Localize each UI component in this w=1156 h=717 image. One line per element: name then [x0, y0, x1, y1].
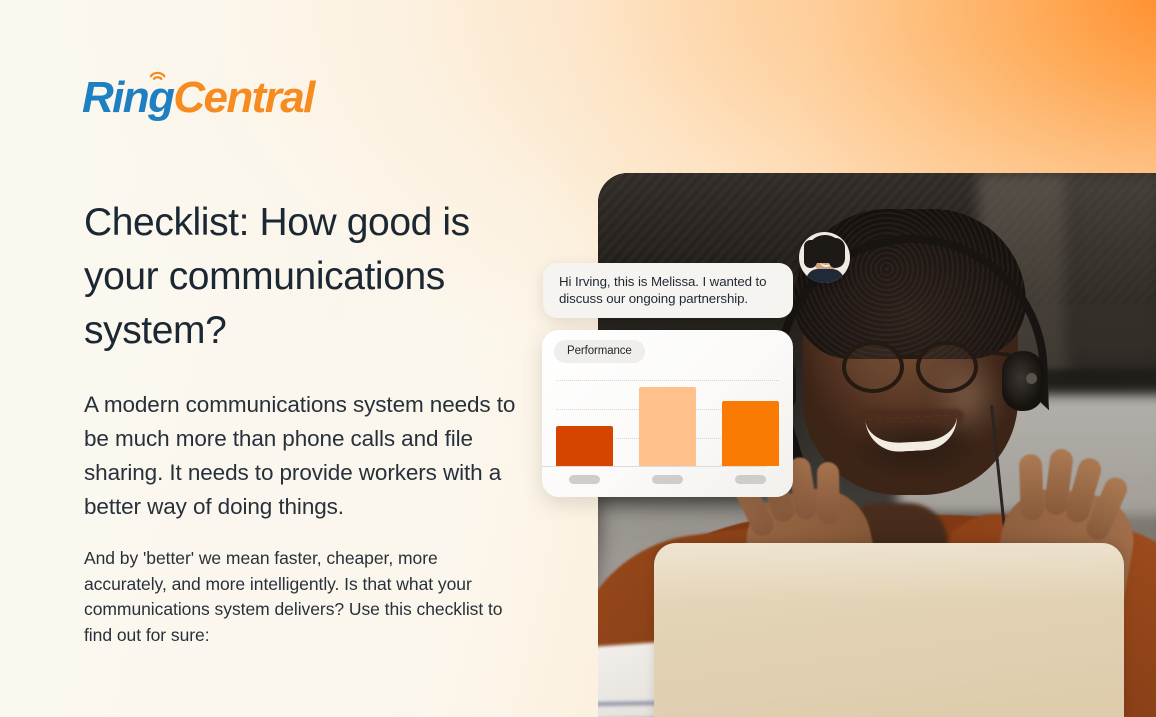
- poster-canvas: RingCentral Checklist: How good is your …: [0, 0, 1156, 717]
- laptop-lid: [654, 543, 1124, 717]
- logo-text-central: Central: [173, 73, 313, 122]
- chart-bars: [556, 376, 781, 466]
- performance-chart-card[interactable]: Performance: [542, 330, 793, 497]
- bar-3[interactable]: [722, 401, 779, 466]
- page-title: Checklist: How good is your communicatio…: [84, 196, 529, 358]
- lead-paragraph: A modern communications system needs to …: [84, 388, 524, 524]
- tick-placeholder-3: [735, 475, 766, 484]
- tick-placeholder-2: [652, 475, 683, 484]
- chart-title-badge: Performance: [554, 340, 645, 363]
- chart-x-axis: [542, 466, 767, 467]
- avatar-hair-right: [829, 238, 845, 268]
- text-column: Checklist: How good is your communicatio…: [84, 196, 534, 648]
- laptop-highlight: [654, 543, 1124, 603]
- avatar-clothing: [806, 269, 844, 283]
- chat-message-bubble[interactable]: Hi Irving, this is Melissa. I wanted to …: [543, 263, 793, 318]
- bar-1[interactable]: [556, 426, 613, 467]
- chat-message-text: Hi Irving, this is Melissa. I wanted to …: [559, 273, 777, 307]
- avatar[interactable]: [799, 232, 850, 283]
- chart-x-tick-labels: [556, 475, 781, 484]
- avatar-hair-left: [804, 240, 817, 268]
- sub-paragraph: And by 'better' we mean faster, cheaper,…: [84, 546, 509, 648]
- wifi-arc-icon: [148, 67, 168, 81]
- ringcentral-logo[interactable]: RingCentral: [82, 76, 314, 120]
- tick-placeholder-1: [569, 475, 600, 484]
- bar-2[interactable]: [639, 387, 696, 466]
- headset-earcup-right: [1002, 351, 1044, 411]
